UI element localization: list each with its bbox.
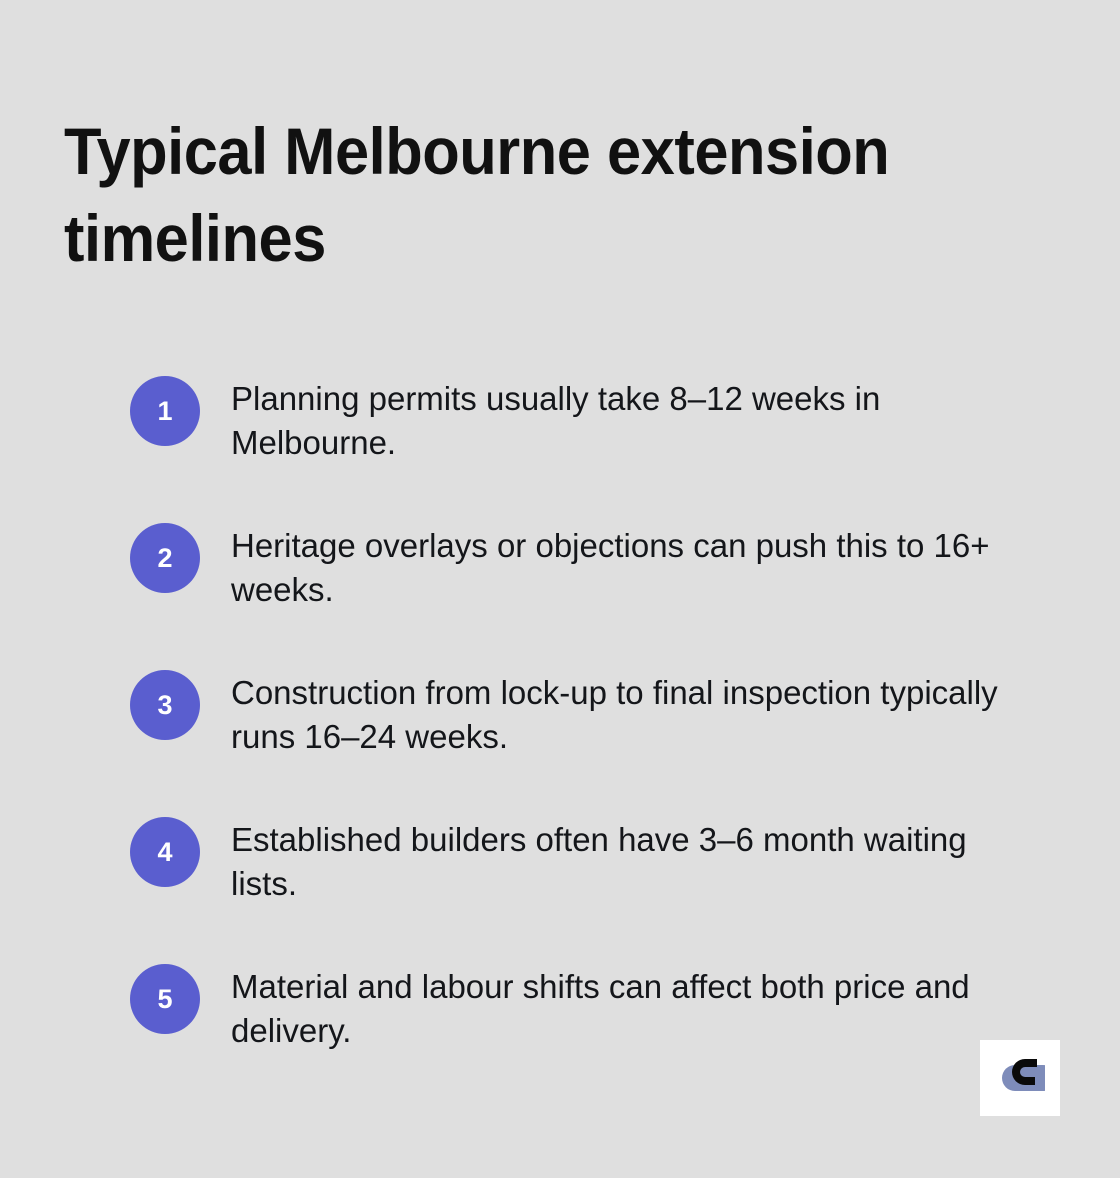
logo-card bbox=[980, 1040, 1060, 1116]
list-item: 4 Established builders often have 3–6 mo… bbox=[130, 817, 1050, 906]
list-item: 5 Material and labour shifts can affect … bbox=[130, 964, 1050, 1053]
list-item-text: Material and labour shifts can affect bo… bbox=[231, 964, 1036, 1053]
title-block: Typical Melbourne extension timelines bbox=[64, 108, 1014, 282]
list-item: 2 Heritage overlays or objections can pu… bbox=[130, 523, 1050, 612]
list-item-number-badge: 1 bbox=[130, 376, 200, 446]
brand-logo-icon bbox=[995, 1055, 1045, 1101]
list-item-text: Heritage overlays or objections can push… bbox=[231, 523, 1036, 612]
timeline-list: 1 Planning permits usually take 8–12 wee… bbox=[130, 376, 1050, 1053]
list-item-text: Construction from lock-up to final inspe… bbox=[231, 670, 1036, 759]
list-item-number-badge: 3 bbox=[130, 670, 200, 740]
list-item: 3 Construction from lock-up to final ins… bbox=[130, 670, 1050, 759]
list-item-number-badge: 5 bbox=[130, 964, 200, 1034]
page-title: Typical Melbourne extension timelines bbox=[64, 108, 948, 282]
list-item-number-badge: 2 bbox=[130, 523, 200, 593]
list-item-text: Planning permits usually take 8–12 weeks… bbox=[231, 376, 1036, 465]
list-item-number-badge: 4 bbox=[130, 817, 200, 887]
infographic-canvas: Typical Melbourne extension timelines 1 … bbox=[0, 0, 1120, 1178]
list-item-text: Established builders often have 3–6 mont… bbox=[231, 817, 1036, 906]
list-item: 1 Planning permits usually take 8–12 wee… bbox=[130, 376, 1050, 465]
